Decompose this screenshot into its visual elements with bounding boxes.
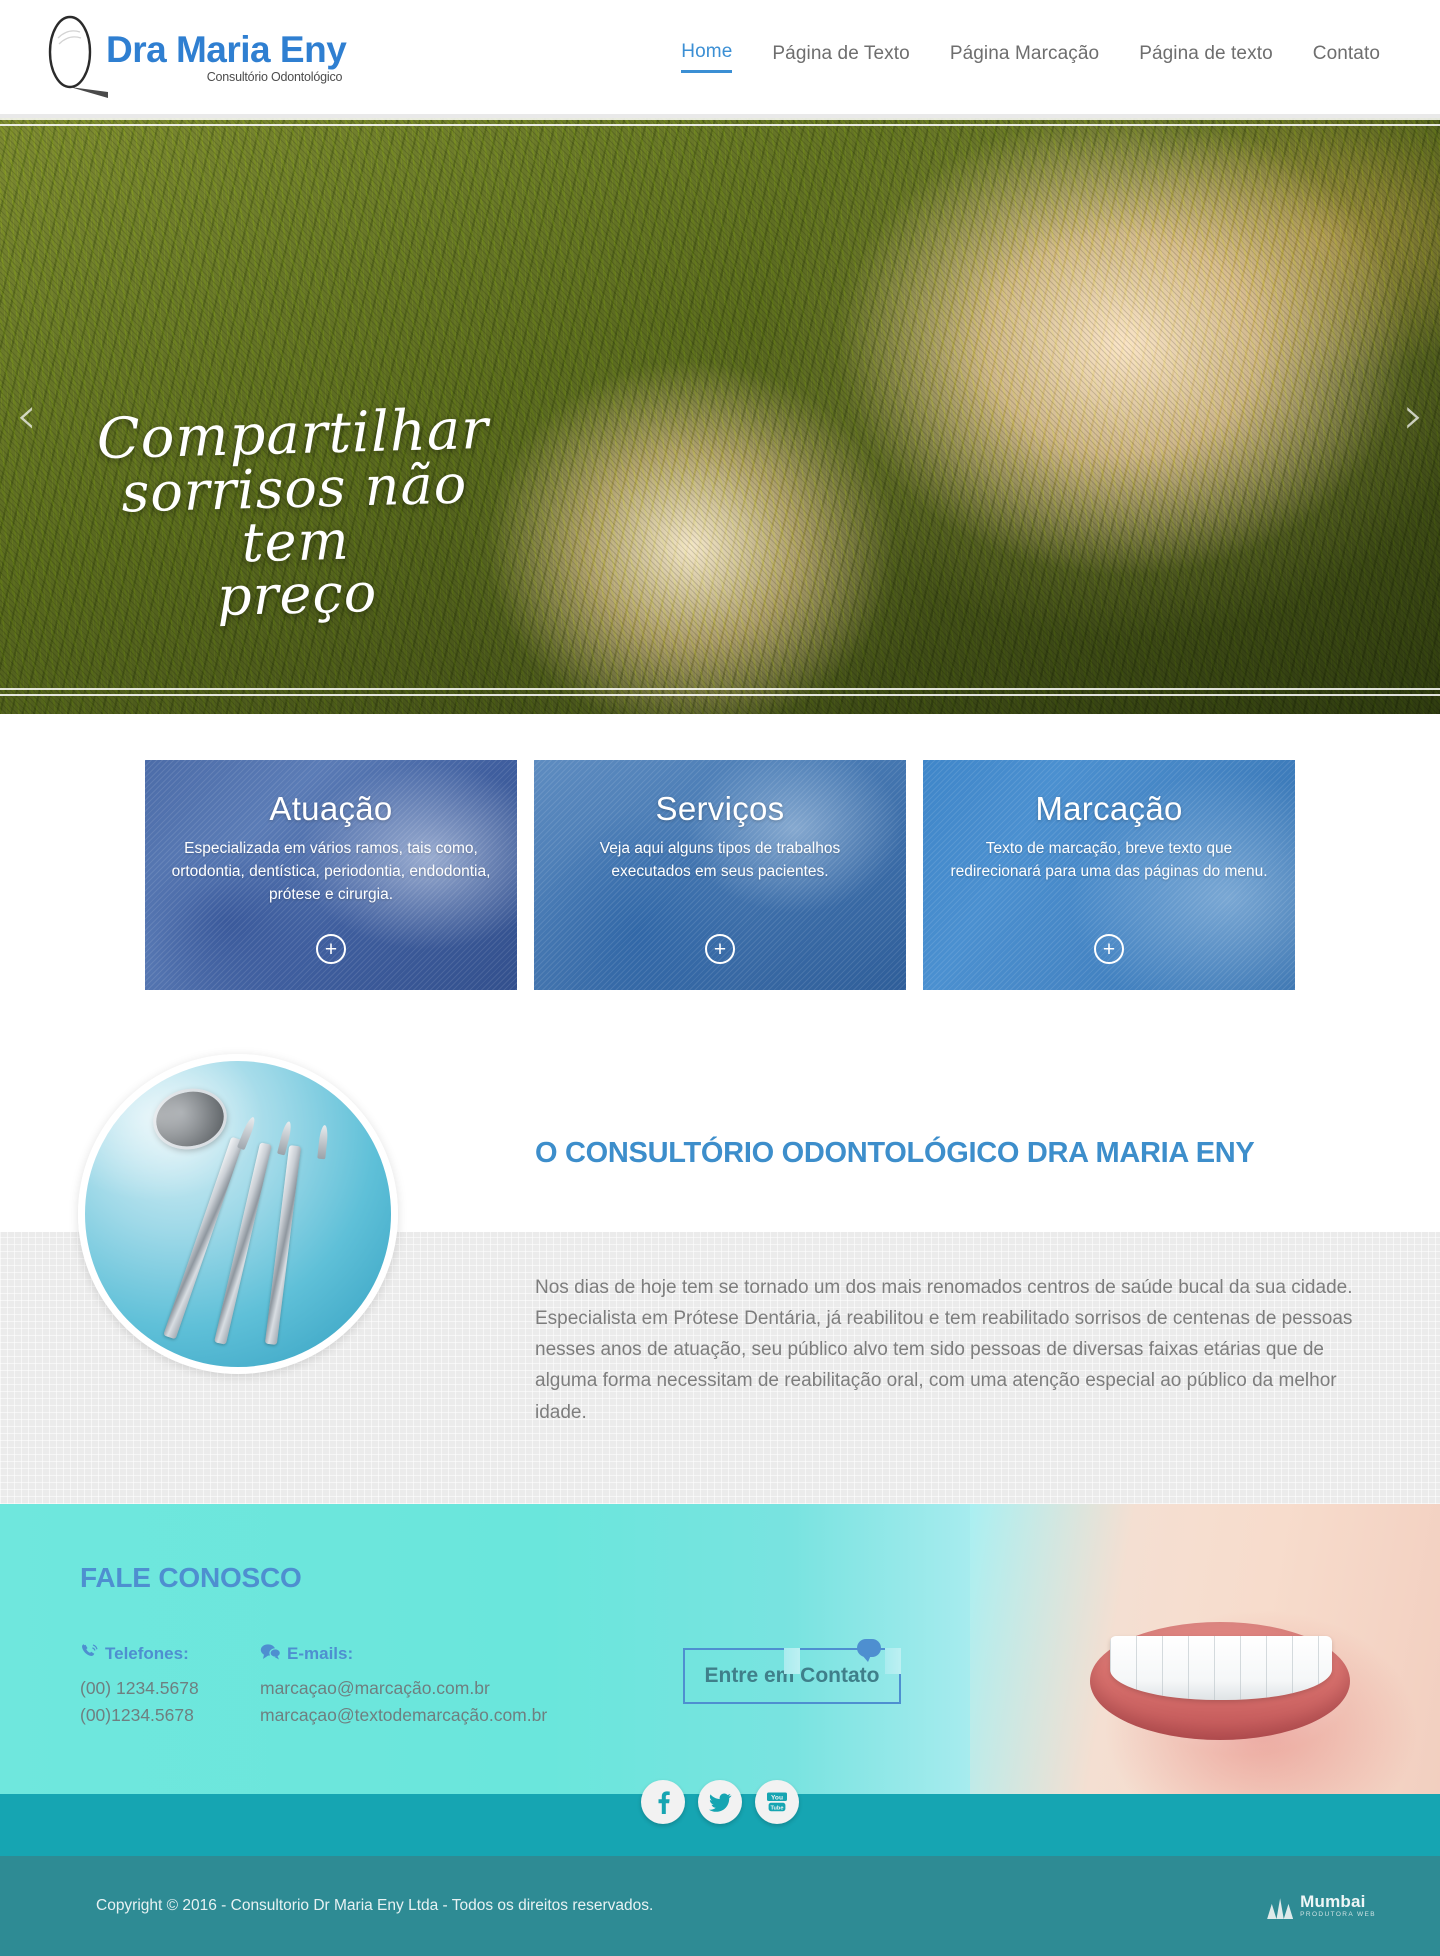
chat-bubble-icon [260,1642,281,1666]
slider-prev-arrow-icon[interactable]: ‹ [16,390,37,442]
agency-tagline: PRODUTORA WEB [1300,1912,1376,1919]
main-navigation: Home Página de Texto Página Marcação Pág… [681,41,1380,73]
feature-card-servicos[interactable]: Serviços Veja aqui alguns tipos de traba… [534,760,906,990]
feature-cards: Atuação Especializada em vários ramos, t… [60,760,1380,990]
site-footer: Copyright © 2016 - Consultorio Dr Maria … [0,1856,1440,1956]
agency-credit[interactable]: Mumbai PRODUTORA WEB [1267,1893,1376,1919]
email-address-2[interactable]: marcaçao@textodemarcação.com.br [260,1702,605,1729]
youtube-icon[interactable]: You Tube [755,1780,799,1824]
card-description: Texto de marcação, breve texto que redir… [949,838,1269,884]
phones-label: Telefones: [105,1644,189,1664]
twitter-icon[interactable] [698,1780,742,1824]
card-title: Atuação [171,790,491,828]
email-address-1[interactable]: marcaçao@marcação.com.br [260,1675,605,1702]
phones-column: Telefones: (00) 1234.5678 (00)1234.5678 [80,1642,260,1729]
feature-cards-section: Atuação Especializada em vários ramos, t… [0,714,1440,1052]
nav-item-pagina-de-texto-2[interactable]: Página de texto [1139,43,1273,72]
logo-subtitle: Consultório Odontológico [106,70,346,84]
button-notch-right [885,1648,901,1674]
feature-card-atuacao[interactable]: Atuação Especializada em vários ramos, t… [145,760,517,990]
tooth-mirror-logo-icon [48,14,110,100]
site-logo[interactable]: Dra Maria Eny Consultório Odontológico [48,14,346,100]
photo-glare [85,1061,391,1367]
emails-label: E-mails: [287,1644,353,1664]
hero-caption: Compartilhar sorrisos não tem preço [77,402,512,627]
facebook-icon[interactable] [641,1780,685,1824]
emails-label-row: E-mails: [260,1642,605,1666]
feature-card-marcacao[interactable]: Marcação Texto de marcação, breve texto … [923,760,1295,990]
logo-title: Dra Maria Eny [106,31,346,68]
about-body-text: Nos dias de hoje tem se tornado um dos m… [535,1272,1355,1428]
phone-icon [80,1642,99,1666]
svg-text:Tube: Tube [771,1805,784,1811]
hero-caption-line-2: sorrisos não tem [79,457,512,574]
nav-item-pagina-de-texto[interactable]: Página de Texto [772,43,909,72]
mumbai-logo-icon [1267,1893,1293,1919]
button-notch-left [784,1648,800,1674]
emails-column: E-mails: marcaçao@marcação.com.br marcaç… [260,1642,605,1729]
card-description: Especializada em vários ramos, tais como… [171,838,491,907]
nav-item-pagina-marcacao[interactable]: Página Marcação [950,43,1099,72]
svg-text:You: You [771,1794,783,1801]
card-plus-icon[interactable]: + [1094,934,1124,964]
card-plus-icon[interactable]: + [316,934,346,964]
phones-label-row: Telefones: [80,1642,260,1666]
card-plus-icon[interactable]: + [705,934,735,964]
social-bar: You Tube [0,1794,1440,1856]
about-heading: O CONSULTÓRIO ODONTOLÓGICO DRA MARIA ENY [535,1137,1254,1170]
nav-item-contato[interactable]: Contato [1313,43,1380,72]
hero-slider: Compartilhar sorrisos não tem preço ‹ › [0,114,1440,714]
entre-em-contato-button[interactable]: Entre em Contato [683,1648,901,1704]
chat-bubble-icon [857,1639,881,1657]
social-icon-list: You Tube [641,1780,799,1824]
contact-title: FALE CONOSCO [80,1562,1440,1594]
copyright-text: Copyright © 2016 - Consultorio Dr Maria … [96,1897,653,1915]
nav-item-home[interactable]: Home [681,41,732,73]
site-header: Dra Maria Eny Consultório Odontológico H… [0,0,1440,114]
slider-next-arrow-icon[interactable]: › [1403,390,1424,442]
contact-section: FALE CONOSCO Telefones: (00) 1234.5678 (… [0,1504,1440,1794]
card-title: Marcação [949,790,1269,828]
phone-number-2[interactable]: (00)1234.5678 [80,1702,260,1729]
about-section: O CONSULTÓRIO ODONTOLÓGICO DRA MARIA ENY… [0,1232,1440,1504]
card-description: Veja aqui alguns tipos de trabalhos exec… [560,838,880,884]
phone-number-1[interactable]: (00) 1234.5678 [80,1675,260,1702]
agency-name: Mumbai [1300,1893,1376,1910]
card-title: Serviços [560,790,880,828]
dental-instruments-photo [78,1054,398,1374]
hero-caption-line-3: preço [81,563,512,627]
